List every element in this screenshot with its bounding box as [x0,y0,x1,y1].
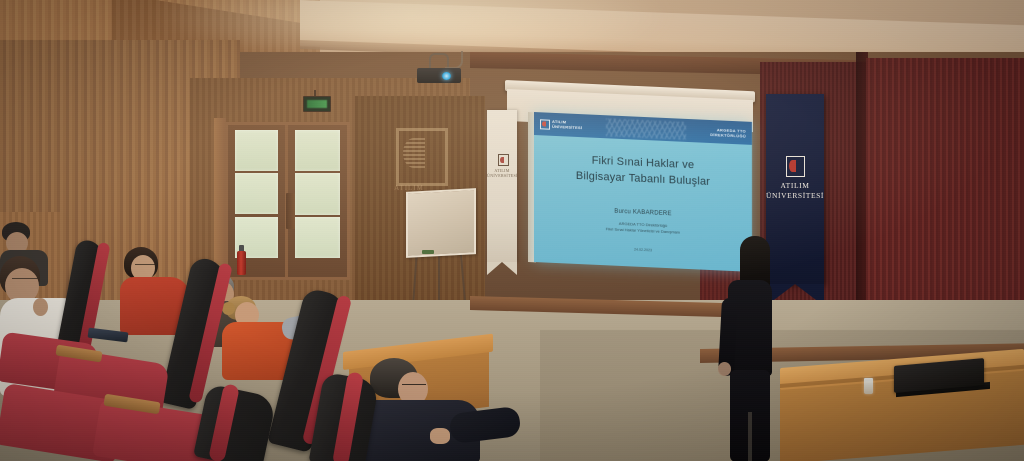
attendee-hair-bun [222,302,235,315]
door-glass-pane [295,217,341,258]
slide-logo-text: ATILIM ÜNİVERSİTESİ [552,120,582,130]
door-glass-pane [295,173,341,214]
door-glass-pane [235,173,278,214]
banner-navy-line-2: ÜNİVERSİTESİ [766,191,824,201]
atilim-logo-mark-icon [396,128,448,186]
projector-lens-icon [442,72,451,80]
attendee-glasses-icon [135,264,155,269]
banner-white-atilim: ATILIM ÜNİVERSİTESİ [487,110,517,262]
slide-atilim-logo: ATILIM ÜNİVERSİTESİ [540,119,582,131]
projector-cable [445,51,463,69]
flipchart-easel [404,190,476,302]
easel-leg [438,254,440,302]
atilim-logo-mark-icon [498,154,509,166]
banner-navy-atilim: ATILIM ÜNİVERSİTESİ [766,94,824,284]
easel-marker-tray [422,250,434,254]
presenter-hand [718,362,731,376]
banner-white-line-2: ÜNİVERSİTESİ [487,173,517,178]
easel-leg [460,254,466,302]
presenter-leg-gap [748,412,752,461]
banner-navy-text: ATILIM ÜNİVERSİTESİ [766,181,824,200]
door-glass-pane [295,130,341,171]
door-glass-pane [235,130,278,171]
atilim-logo-mark-icon [786,156,805,177]
banner-white-text: ATILIM ÜNİVERSİTESİ [487,168,517,178]
slide-title: Fikri Sınai Haklar ve Bilgisayar Tabanlı… [534,150,752,192]
exit-sign-glow [307,100,327,108]
attendee-hand [430,428,450,444]
whiteboard-surface [406,188,476,258]
attendee-glasses-icon [402,384,426,390]
fire-extinguisher-icon [237,245,246,275]
attendee-hand [33,298,48,316]
ceiling-projector [417,65,461,83]
attendee-glasses-icon [12,278,38,284]
presenter-laptop [894,362,990,396]
easel-leg [412,254,417,302]
attendee-center-front [360,358,520,461]
auditorium-photo: ATILIM [0,0,1024,461]
extinguisher-body [237,251,246,275]
slide-department-label: ARGEDA TTO DİREKTÖRLÜĞÜ [710,126,746,138]
emergency-exit-sign-icon [303,96,331,112]
door-leaf-right[interactable] [288,125,348,277]
projector-body [417,68,461,83]
presenter-standing [714,236,774,461]
slide-logo-line2: ÜNİVERSİTESİ [552,124,582,130]
banner-navy-line-1: ATILIM [766,181,824,191]
atilim-logo-mark-icon [540,119,550,129]
water-glass [864,378,873,394]
slide-header-watermark [606,118,686,140]
door-handle[interactable] [286,193,295,229]
